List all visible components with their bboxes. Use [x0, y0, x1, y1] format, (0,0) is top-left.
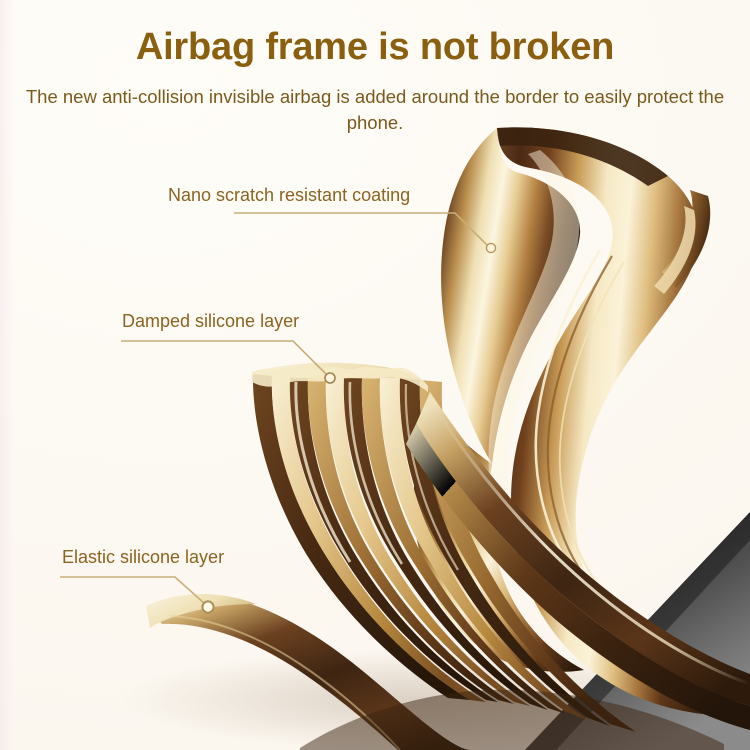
leader-line-elastic	[60, 577, 205, 604]
page-subtitle: The new anti-collision invisible airbag …	[8, 84, 742, 137]
leader-ring-damped	[325, 373, 335, 383]
leader-line-damped	[121, 341, 327, 375]
callout-label-nano: Nano scratch resistant coating	[168, 186, 410, 204]
callout-label-damped: Damped silicone layer	[122, 312, 299, 330]
product-feature-poster: Airbag frame is not broken The new anti-…	[0, 0, 750, 750]
callout-label-elastic: Elastic silicone layer	[62, 548, 224, 566]
leader-ring-elastic	[202, 601, 213, 612]
page-title: Airbag frame is not broken	[0, 26, 750, 69]
leader-dot-nano	[486, 243, 495, 252]
leader-line-nano	[234, 213, 487, 245]
